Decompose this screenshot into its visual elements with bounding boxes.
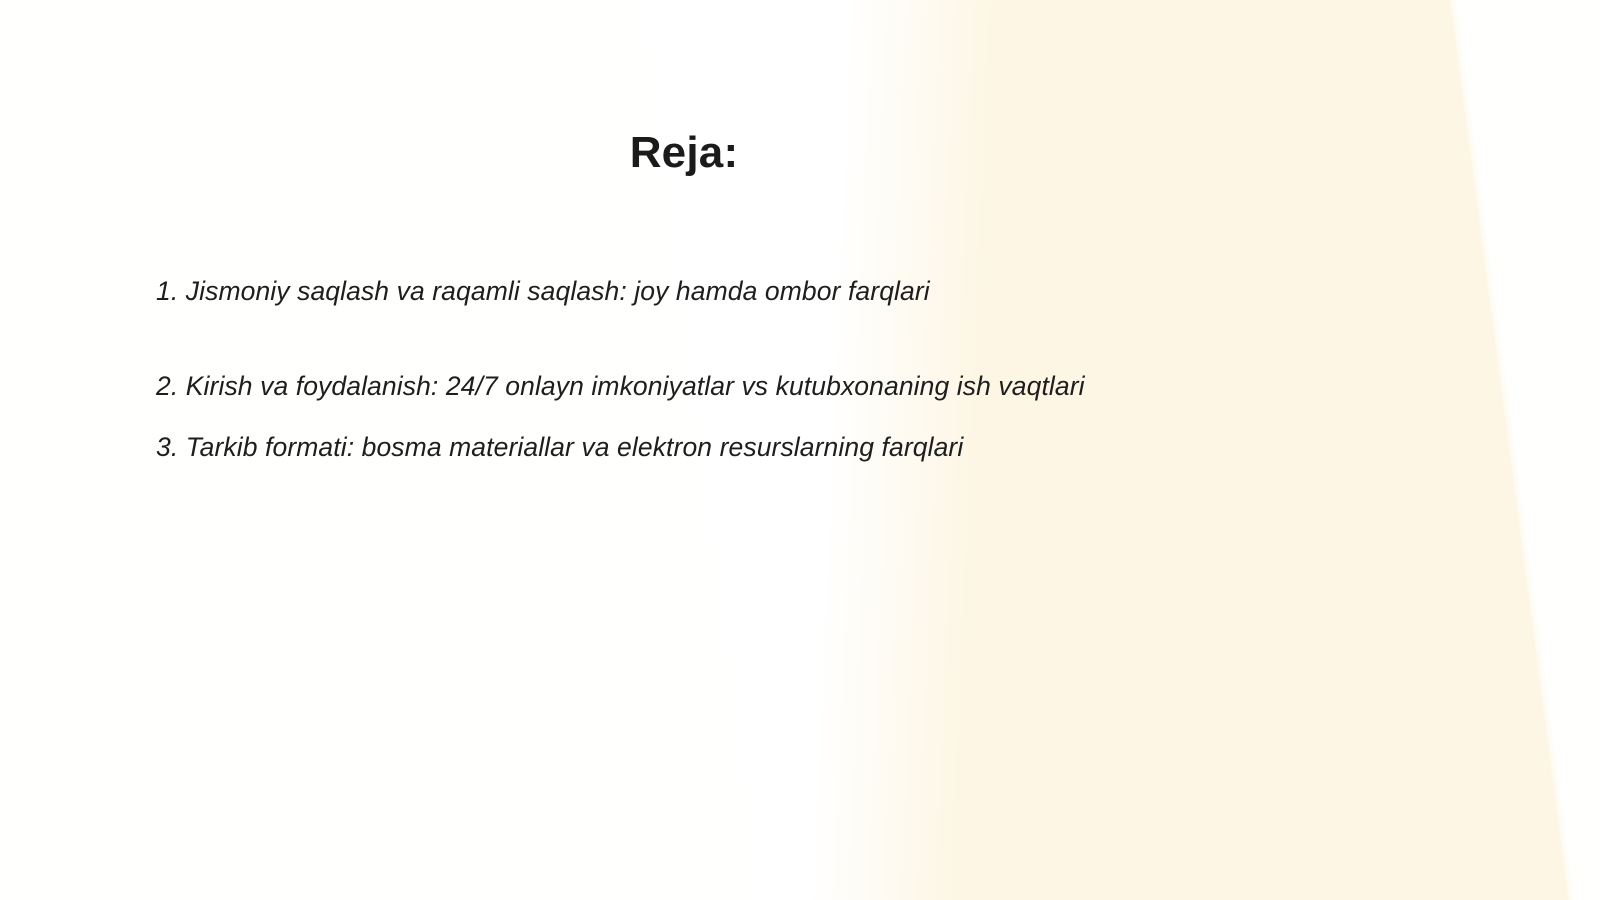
agenda-list: 1. Jismoniy saqlash va raqamli saqlash: … [156,272,1166,466]
page-title: Reja: [0,128,1368,178]
slide-content: Reja: 1. Jismoniy saqlash va raqamli saq… [0,0,1600,900]
slide-canvas: Reja: 1. Jismoniy saqlash va raqamli saq… [0,0,1600,900]
list-item: 3. Tarkib formati: bosma materiallar va … [156,428,1166,466]
list-item: 1. Jismoniy saqlash va raqamli saqlash: … [156,272,1166,310]
list-item: 2. Kirish va foydalanish: 24/7 onlayn im… [156,367,1166,405]
